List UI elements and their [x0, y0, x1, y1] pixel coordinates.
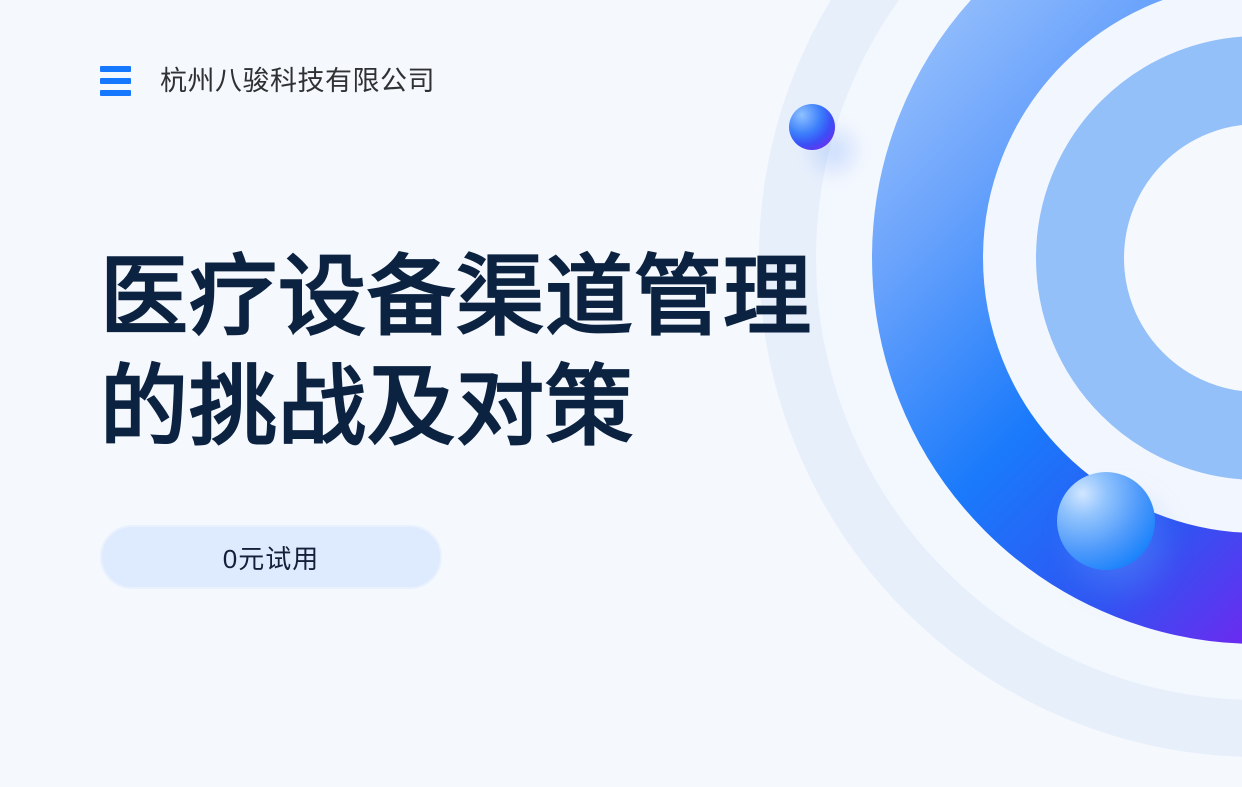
inner-light-blue-arc: [1080, 80, 1242, 436]
small-gradient-sphere: [789, 104, 835, 150]
page-title-line-1: 医疗设备渠道管理: [100, 242, 812, 352]
small-sphere-glow: [800, 118, 866, 184]
menu-bar-middle: [100, 78, 131, 84]
brand-name: 杭州八骏科技有限公司: [160, 68, 435, 95]
inner-gap-ring-arc: [1010, 10, 1242, 506]
hamburger-menu-icon[interactable]: [100, 64, 134, 98]
page-header: 杭州八骏科技有限公司: [100, 64, 435, 98]
page-title: 医疗设备渠道管理 的挑战及对策: [100, 242, 812, 462]
pale-ring-arc: [844, 0, 1242, 672]
menu-bar-bottom: [100, 90, 131, 96]
main-gradient-arc: [928, 0, 1242, 588]
menu-bar-top: [100, 66, 131, 72]
outer-ring-arc: [788, 0, 1242, 728]
free-trial-button[interactable]: 0元试用: [100, 525, 442, 589]
large-sphere-glow: [1052, 478, 1184, 610]
hero-section: 医疗设备渠道管理 的挑战及对策 0元试用: [100, 242, 812, 589]
large-gradient-sphere: [1057, 472, 1155, 570]
page-title-line-2: 的挑战及对策: [100, 352, 812, 462]
